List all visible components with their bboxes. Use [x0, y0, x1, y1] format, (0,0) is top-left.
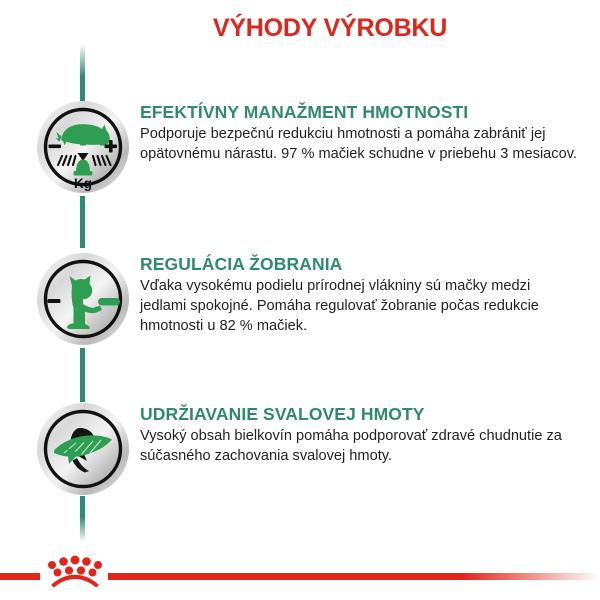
footer-rule-right — [108, 573, 600, 580]
benefit-text-block: UDRŽIAVANIE SVALOVEJ HMOTY Vysoký obsah … — [140, 404, 580, 467]
product-benefits-page: VÝHODY VÝROBKU — [0, 0, 600, 600]
sitting-cat-begging-icon — [36, 252, 130, 346]
royal-canin-crown-logo — [44, 554, 106, 588]
benefit-body: Vďaka vysokému podielu prírodnej vláknin… — [140, 277, 580, 337]
icon-kg-label: Kg — [74, 176, 92, 191]
connector-rail-1 — [80, 196, 85, 248]
muscle-mass-icon — [36, 402, 130, 496]
footer — [0, 536, 600, 600]
benefit-heading: UDRŽIAVANIE SVALOVEJ HMOTY — [140, 404, 580, 424]
benefit-text-block: EFEKTÍVNY MANAŽMENT HMOTNOSTI Podporuje … — [140, 102, 580, 165]
benefit-item: UDRŽIAVANIE SVALOVEJ HMOTY Vysoký obsah … — [0, 402, 600, 498]
benefit-heading: EFEKTÍVNY MANAŽMENT HMOTNOSTI — [140, 102, 580, 122]
connector-rail-2 — [80, 348, 85, 402]
benefit-text-block: REGULÁCIA ŽOBRANIA Vďaka vysokému podiel… — [140, 254, 580, 337]
connector-rail-top — [80, 44, 85, 104]
page-title: VÝHODY VÝROBKU — [0, 14, 600, 43]
cat-on-weight-scale-icon: Kg — [36, 100, 130, 194]
benefit-item: Kg EFEKTÍVNY MANAŽMENT HMOTNOSTI Podporu… — [0, 100, 600, 196]
footer-rule-left — [0, 573, 40, 580]
benefit-body: Podporuje bezpečnú redukciu hmotnosti a … — [140, 125, 580, 165]
benefit-item: REGULÁCIA ŽOBRANIA Vďaka vysokému podiel… — [0, 252, 600, 348]
benefit-heading: REGULÁCIA ŽOBRANIA — [140, 254, 580, 274]
benefit-body: Vysoký obsah bielkovín pomáha podporovať… — [140, 427, 580, 467]
